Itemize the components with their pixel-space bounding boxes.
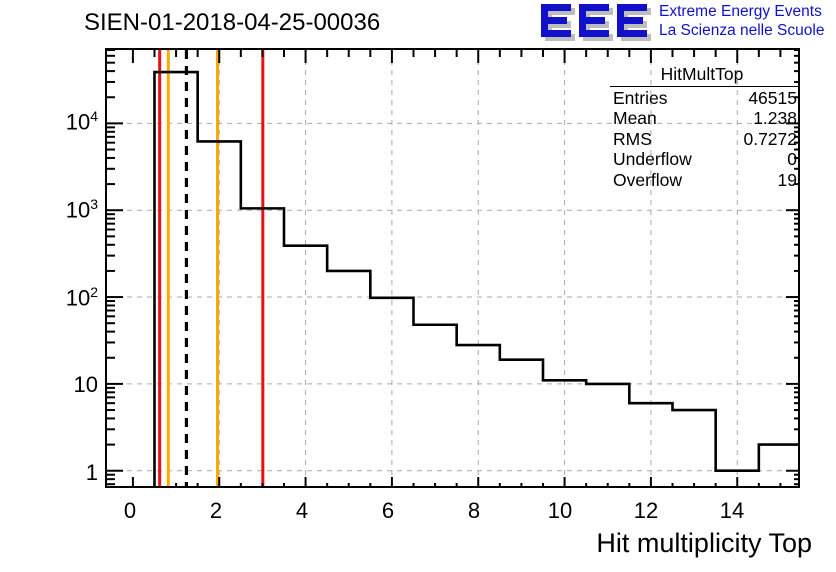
x-tick-label-10: 10 (540, 498, 580, 524)
stats-value-overflow: 19 (778, 170, 797, 191)
y-tick-label-10000: 104 (28, 108, 98, 135)
stats-row-overflow: Overflow 19 (604, 170, 800, 191)
stats-box: HitMultTop Entries 46515 Mean 1.238 RMS … (604, 64, 800, 191)
stats-label-overflow: Overflow (613, 170, 682, 191)
stats-row-underflow: Underflow 0 (604, 149, 800, 170)
y-tick-label-10: 10 (28, 372, 98, 398)
stats-value-underflow: 0 (787, 149, 797, 170)
x-tick-label-8: 8 (454, 498, 494, 524)
stats-value-mean: 1.238 (753, 108, 797, 129)
x-tick-label-4: 4 (282, 498, 322, 524)
logo-letter-e-2 (579, 4, 609, 37)
x-tick-label-14: 14 (712, 498, 752, 524)
stats-value-rms: 0.7272 (743, 129, 797, 150)
stats-row-mean: Mean 1.238 (604, 108, 800, 129)
eee-logo: Extreme Energy Events La Scienza nelle S… (541, 2, 833, 44)
stats-label-mean: Mean (613, 108, 657, 129)
x-axis-title: Hit multiplicity Top (596, 528, 812, 559)
eee-logo-mark (541, 4, 651, 38)
logo-line-2: La Scienza nelle Scuole (659, 21, 824, 40)
stats-row-rms: RMS 0.7272 (604, 129, 800, 150)
stats-label-underflow: Underflow (613, 149, 692, 170)
stats-divider (610, 86, 798, 87)
stats-row-entries: Entries 46515 (604, 88, 800, 109)
y-tick-label-100: 102 (28, 284, 98, 311)
eee-logo-text: Extreme Energy Events La Scienza nelle S… (659, 2, 824, 40)
x-tick-label-12: 12 (626, 498, 666, 524)
stats-label-entries: Entries (613, 88, 667, 109)
stats-label-rms: RMS (613, 129, 652, 150)
page-title: SIEN-01-2018-04-25-00036 (84, 9, 380, 37)
stats-value-entries: 46515 (748, 88, 797, 109)
stats-title: HitMultTop (604, 64, 800, 86)
logo-line-1: Extreme Energy Events (659, 2, 824, 21)
y-tick-label-1000: 103 (28, 196, 98, 223)
x-tick-label-0: 0 (110, 498, 150, 524)
y-tick-label-1: 1 (28, 460, 98, 486)
x-tick-label-6: 6 (368, 498, 408, 524)
logo-letter-e-1 (541, 4, 571, 37)
x-tick-label-2: 2 (196, 498, 236, 524)
logo-letter-e-3 (617, 4, 647, 37)
